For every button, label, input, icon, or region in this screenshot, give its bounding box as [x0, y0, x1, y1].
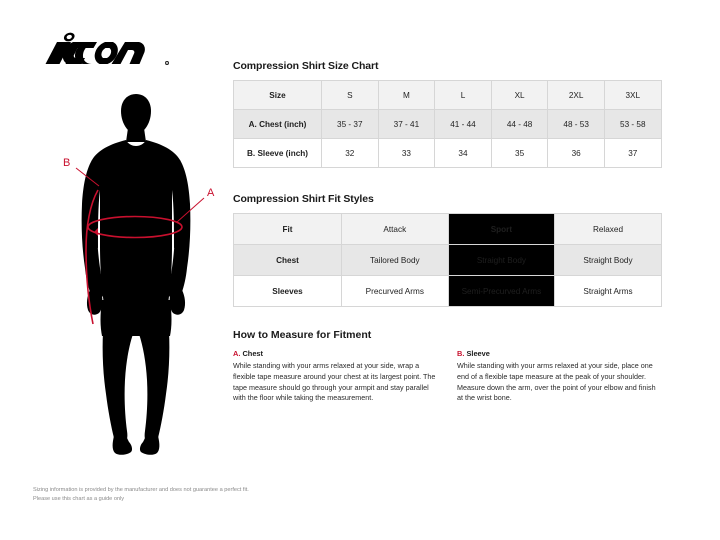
fit-col-sport: Sport: [448, 214, 555, 245]
chest-value-3xl: 53 - 58: [604, 110, 661, 139]
fit-row-label-chest: Chest: [234, 245, 342, 276]
body-silhouette-figure: A B: [36, 86, 236, 466]
table-row: Sleeves Precurved Arms Semi-Precurved Ar…: [234, 276, 662, 307]
chest-value-l: 41 - 44: [435, 110, 492, 139]
svg-text:R: R: [166, 62, 168, 66]
male-body-silhouette: A B: [36, 86, 236, 466]
size-col-header: Size: [234, 81, 322, 110]
sleeve-value-2xl: 36: [548, 139, 605, 168]
table-row: Size S M L XL 2XL 3XL: [234, 81, 662, 110]
fit-col-header: Fit: [234, 214, 342, 245]
fit-sleeves-relaxed: Straight Arms: [555, 276, 662, 307]
measure-chest-heading: A. Chest: [233, 349, 439, 358]
table-row: A. Chest (inch) 35 - 37 37 - 41 41 - 44 …: [234, 110, 662, 139]
measure-section-title: How to Measure for Fitment: [233, 329, 663, 341]
row-label-sleeve: B. Sleeve (inch): [234, 139, 322, 168]
sleeve-value-m: 33: [378, 139, 435, 168]
size-col-s: S: [322, 81, 379, 110]
measure-item-sleeve: B. Sleeve While standing with your arms …: [457, 349, 663, 404]
measure-chest-letter: A.: [233, 349, 240, 358]
fit-styles-title: Compression Shirt Fit Styles: [233, 193, 663, 205]
size-col-l: L: [435, 81, 492, 110]
size-col-2xl: 2XL: [548, 81, 605, 110]
fit-styles-table: Fit Attack Sport Relaxed Chest Tailored …: [233, 213, 662, 307]
disclaimer-line-2: Please use this chart as a guide only: [33, 495, 453, 504]
disclaimer-line-1: Sizing information is provided by the ma…: [33, 486, 453, 495]
size-col-3xl: 3XL: [604, 81, 661, 110]
measure-chest-name: Chest: [242, 349, 263, 358]
row-label-chest: A. Chest (inch): [234, 110, 322, 139]
measure-item-chest: A. Chest While standing with your arms r…: [233, 349, 439, 404]
chest-value-s: 35 - 37: [322, 110, 379, 139]
fit-row-label-sleeves: Sleeves: [234, 276, 342, 307]
fit-chest-attack: Tailored Body: [342, 245, 449, 276]
measure-sleeve-heading: B. Sleeve: [457, 349, 663, 358]
svg-text:A: A: [207, 187, 215, 199]
fit-chest-sport: Straight Body: [448, 245, 555, 276]
brand-logo: R: [30, 30, 180, 72]
size-col-m: M: [378, 81, 435, 110]
sleeve-value-l: 34: [435, 139, 492, 168]
svg-text:B: B: [63, 157, 70, 169]
fit-chest-relaxed: Straight Body: [555, 245, 662, 276]
chest-value-m: 37 - 41: [378, 110, 435, 139]
measure-sleeve-name: Sleeve: [466, 349, 489, 358]
sleeve-value-3xl: 37: [604, 139, 661, 168]
sleeve-value-s: 32: [322, 139, 379, 168]
sleeve-value-xl: 35: [491, 139, 548, 168]
table-row: Fit Attack Sport Relaxed: [234, 214, 662, 245]
size-chart-table: Size S M L XL 2XL 3XL A. Chest (inch) 35…: [233, 80, 662, 168]
measure-sleeve-text: While standing with your arms relaxed at…: [457, 361, 663, 404]
fit-col-attack: Attack: [342, 214, 449, 245]
size-chart-title: Compression Shirt Size Chart: [233, 60, 663, 72]
fit-sleeves-attack: Precurved Arms: [342, 276, 449, 307]
measure-sleeve-letter: B.: [457, 349, 464, 358]
chest-value-xl: 44 - 48: [491, 110, 548, 139]
table-row: B. Sleeve (inch) 32 33 34 35 36 37: [234, 139, 662, 168]
table-row: Chest Tailored Body Straight Body Straig…: [234, 245, 662, 276]
chest-value-2xl: 48 - 53: [548, 110, 605, 139]
disclaimer: Sizing information is provided by the ma…: [33, 486, 453, 504]
icon-wordmark-logo: R: [30, 30, 180, 72]
measure-chest-text: While standing with your arms relaxed at…: [233, 361, 439, 404]
fit-sleeves-sport: Semi-Precurved Arms: [448, 276, 555, 307]
size-col-xl: XL: [491, 81, 548, 110]
fit-col-relaxed: Relaxed: [555, 214, 662, 245]
